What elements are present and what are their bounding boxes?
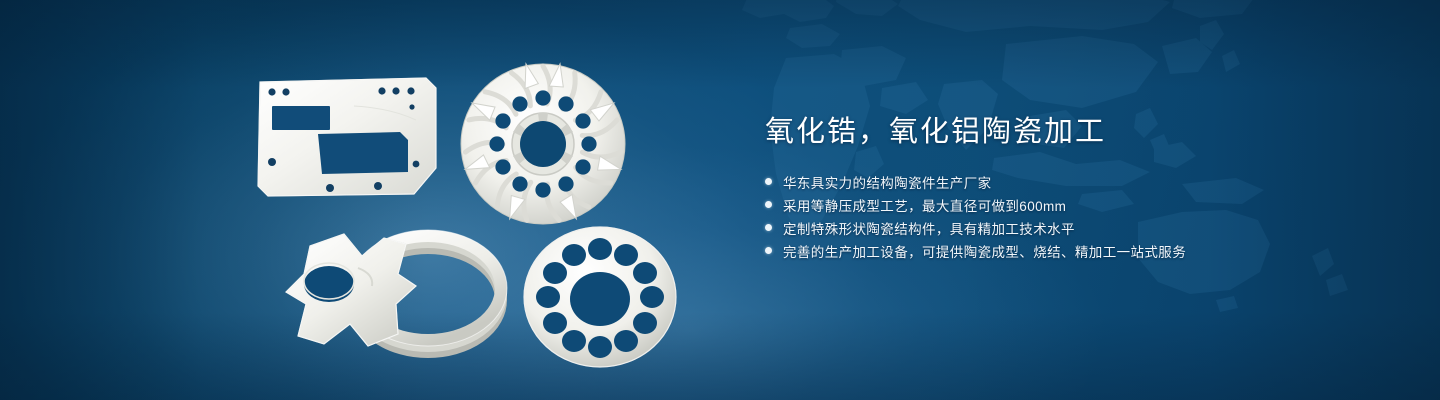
banner-copy: 氧化锆，氧化铝陶瓷加工 华东具实力的结构陶瓷件生产厂家 采用等静压成型工艺，最大… — [765, 112, 1385, 262]
list-item: 完善的生产加工设备，可提供陶瓷成型、烧结、精加工一站式服务 — [765, 239, 1385, 262]
feature-text: 采用等静压成型工艺，最大直径可做到600mm — [783, 195, 1066, 215]
list-item: 华东具实力的结构陶瓷件生产厂家 — [765, 170, 1385, 193]
bullet-dot-icon — [765, 224, 772, 231]
bullet-dot-icon — [765, 201, 772, 208]
list-item: 定制特殊形状陶瓷结构件，具有精加工技术水平 — [765, 216, 1385, 239]
bullet-dot-icon — [765, 178, 772, 185]
bullet-dot-icon — [765, 247, 772, 254]
feature-text: 华东具实力的结构陶瓷件生产厂家 — [783, 172, 992, 192]
ceramic-mounting-plate-image — [250, 68, 446, 204]
feature-list: 华东具实力的结构陶瓷件生产厂家 采用等静压成型工艺，最大直径可做到600mm 定… — [765, 170, 1385, 262]
product-image-group — [0, 0, 740, 400]
list-item: 采用等静压成型工艺，最大直径可做到600mm — [765, 193, 1385, 216]
ceramic-products-hero-banner: 氧化锆，氧化铝陶瓷加工 华东具实力的结构陶瓷件生产厂家 采用等静压成型工艺，最大… — [0, 0, 1440, 400]
feature-text: 完善的生产加工设备，可提供陶瓷成型、烧结、精加工一站式服务 — [783, 241, 1186, 261]
feature-text: 定制特殊形状陶瓷结构件，具有精加工技术水平 — [783, 218, 1075, 238]
page-title: 氧化锆，氧化铝陶瓷加工 — [765, 112, 1385, 152]
ceramic-impeller-image — [448, 48, 638, 238]
ceramic-hole-disc-image — [518, 222, 682, 372]
ceramic-cross-part-and-rings-image — [246, 222, 518, 374]
